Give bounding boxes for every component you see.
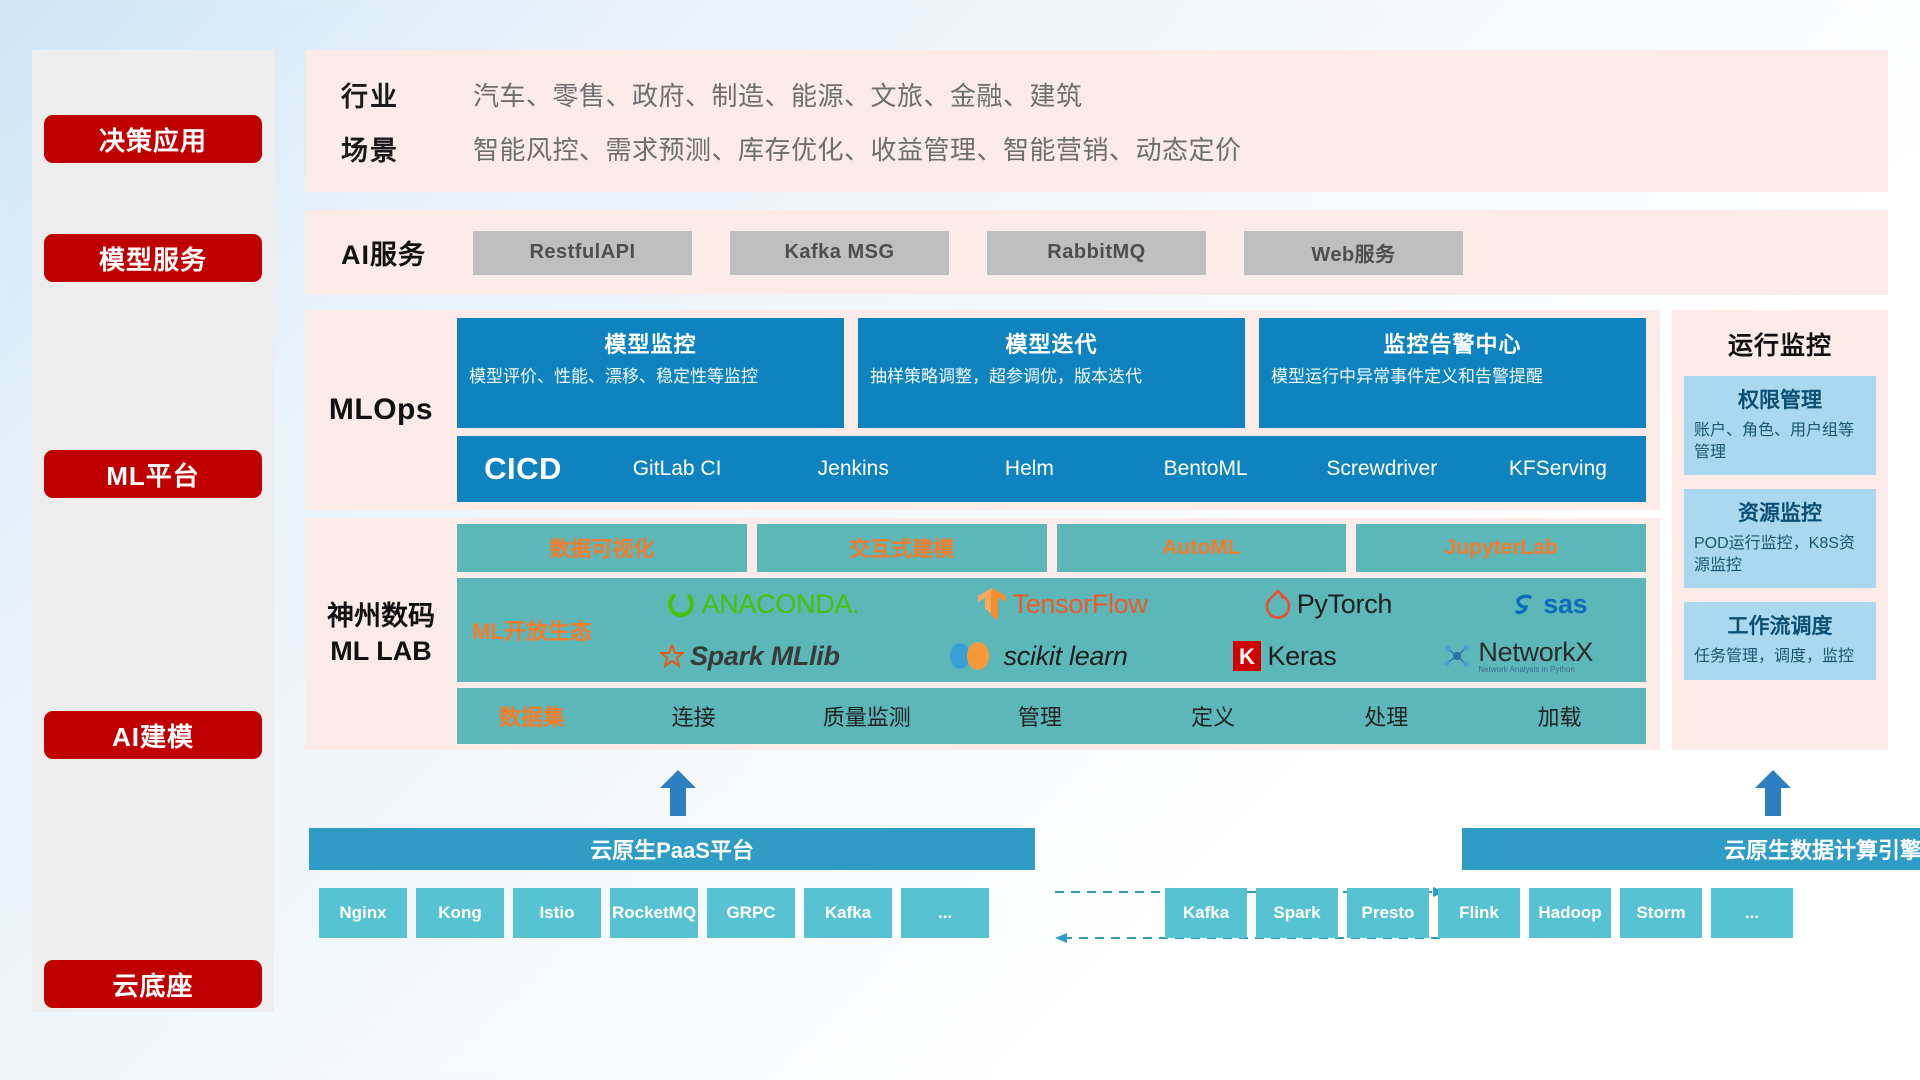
anaconda-logo: ANACONDA.: [666, 589, 860, 620]
ml-ecosystem-label: ML开放生态: [457, 614, 607, 646]
mlops-card-group: 模型监控 模型评价、性能、漂移、稳定性等监控 模型迭代 抽样策略调整，超参调优，…: [457, 318, 1646, 428]
industry-key: 行业: [341, 75, 473, 114]
mlops-card-model-monitoring[interactable]: 模型监控 模型评价、性能、漂移、稳定性等监控: [457, 318, 844, 428]
paas-chip-nginx[interactable]: Nginx: [319, 888, 407, 938]
industry-line: 行业 汽车、零售、政府、制造、能源、文旅、金融、建筑: [341, 67, 1888, 121]
mlops-card-alert-center[interactable]: 监控告警中心 模型运行中异常事件定义和告警提醒: [1259, 318, 1646, 428]
ml-lab-key: 神州数码 ML LAB: [305, 599, 457, 668]
engine-chip-spark[interactable]: Spark: [1256, 888, 1338, 938]
card-desc: 抽样策略调整，超参调优，版本迭代: [870, 366, 1233, 389]
dataset-label: 数据集: [457, 700, 607, 732]
sas-label: sas: [1543, 589, 1587, 620]
card-title: 资源监控: [1694, 497, 1866, 527]
pytorch-label: PyTorch: [1297, 589, 1392, 620]
ml-ecosystem-logos: ANACONDA. TensorFlow: [607, 579, 1646, 681]
networkx-logo: NetworkX Network Analysis in Python: [1442, 639, 1593, 674]
svg-text:K: K: [1240, 644, 1256, 669]
engine-chip-more[interactable]: ...: [1711, 888, 1793, 938]
logo-row-1: ANACONDA. TensorFlow: [607, 579, 1646, 629]
card-title: 权限管理: [1694, 384, 1866, 414]
networkx-label: NetworkX: [1478, 639, 1593, 666]
ml-lab-key-line2: ML LAB: [305, 634, 457, 669]
left-layer-rail: 决策应用 模型服务 ML平台 AI建模 云底座: [32, 50, 274, 1012]
card-title: 工作流调度: [1694, 610, 1866, 640]
ml-lab-tab-group: 数据可视化 交互式建模 AutoML JupyterLab: [457, 524, 1646, 572]
rail-item-ai-modeling[interactable]: AI建模: [44, 711, 262, 759]
dataset-item-quality-monitor[interactable]: 质量监测: [780, 700, 953, 732]
pytorch-logo: PyTorch: [1265, 589, 1392, 620]
scenario-section: 行业 汽车、零售、政府、制造、能源、文旅、金融、建筑 场景 智能风控、需求预测、…: [305, 50, 1888, 192]
paas-chip-istio[interactable]: Istio: [513, 888, 601, 938]
pytorch-icon: [1265, 589, 1291, 619]
mlops-key: MLOps: [305, 393, 457, 427]
cicd-item-jenkins[interactable]: Jenkins: [765, 456, 941, 482]
ai-service-chip-group: RestfulAPI Kafka MSG RabbitMQ Web服务: [473, 231, 1463, 275]
engine-chip-kafka[interactable]: Kafka: [1165, 888, 1247, 938]
mlops-card-model-iteration[interactable]: 模型迭代 抽样策略调整，超参调优，版本迭代: [858, 318, 1245, 428]
cicd-item-screwdriver[interactable]: Screwdriver: [1294, 456, 1470, 482]
card-title: 模型迭代: [870, 327, 1233, 359]
rail-item-model-service[interactable]: 模型服务: [44, 234, 262, 282]
scene-line: 场景 智能风控、需求预测、库存优化、收益管理、智能营销、动态定价: [341, 121, 1888, 175]
ml-lab-content: 数据可视化 交互式建模 AutoML JupyterLab ML开放生态: [457, 524, 1660, 744]
tensorflow-logo: TensorFlow: [977, 587, 1148, 621]
mlops-content: 模型监控 模型评价、性能、漂移、稳定性等监控 模型迭代 抽样策略调整，超参调优，…: [457, 318, 1660, 502]
paas-chip-kafka[interactable]: Kafka: [804, 888, 892, 938]
ai-service-key: AI服务: [341, 233, 473, 272]
logo-row-2: Spark MLlib scikit learn: [607, 631, 1646, 681]
spark-mllib-label: Spark MLlib: [690, 641, 840, 672]
cloud-paas-bar[interactable]: 云原生PaaS平台: [309, 828, 1035, 870]
ai-service-chip-rabbitmq[interactable]: RabbitMQ: [987, 231, 1206, 275]
card-title: 模型监控: [469, 327, 832, 359]
card-desc: 账户、角色、用户组等管理: [1694, 420, 1866, 463]
ai-service-section: AI服务 RestfulAPI Kafka MSG RabbitMQ Web服务: [305, 210, 1888, 295]
engine-chip-presto[interactable]: Presto: [1347, 888, 1429, 938]
scikit-learn-logo: scikit learn: [946, 641, 1128, 672]
keras-logo: K Keras: [1233, 641, 1336, 672]
paas-chip-rocketmq[interactable]: RocketMQ: [610, 888, 698, 938]
dataset-item-manage[interactable]: 管理: [953, 700, 1126, 732]
paas-chip-grpc[interactable]: GRPC: [707, 888, 795, 938]
cicd-item-kfserving[interactable]: KFServing: [1470, 456, 1646, 482]
ai-service-chip-restfulapi[interactable]: RestfulAPI: [473, 231, 692, 275]
diagram-canvas: 决策应用 模型服务 ML平台 AI建模 云底座 行业 汽车、零售、政府、制造、能…: [0, 0, 1920, 1080]
card-desc: 模型运行中异常事件定义和告警提醒: [1271, 366, 1634, 389]
scene-value: 智能风控、需求预测、库存优化、收益管理、智能营销、动态定价: [473, 130, 1242, 167]
mlops-section: MLOps 模型监控 模型评价、性能、漂移、稳定性等监控 模型迭代 抽样策略调整…: [305, 310, 1660, 510]
networkx-icon: [1442, 641, 1472, 671]
ml-lab-section: 神州数码 ML LAB 数据可视化 交互式建模 AutoML JupyterLa…: [305, 518, 1660, 750]
cicd-item-helm[interactable]: Helm: [941, 456, 1117, 482]
rail-item-label: ML平台: [106, 456, 200, 493]
card-desc: POD运行监控，K8S资源监控: [1694, 533, 1866, 576]
dataset-item-load[interactable]: 加载: [1473, 700, 1646, 732]
ml-ecosystem-band: ML开放生态 ANACONDA.: [457, 578, 1646, 682]
ai-service-chip-web-service[interactable]: Web服务: [1244, 231, 1463, 275]
data-engine-chip-group: Kafka Spark Presto Flink Hadoop Storm ..…: [1165, 888, 1793, 938]
sas-icon: [1509, 590, 1537, 618]
tensorflow-icon: [977, 587, 1007, 621]
keras-label: Keras: [1267, 641, 1336, 672]
tab-data-visualization[interactable]: 数据可视化: [457, 524, 747, 572]
paas-chip-kong[interactable]: Kong: [416, 888, 504, 938]
cloud-base-section: 云原生PaaS平台 云原生数据计算引擎 Nginx Kong Istio Roc…: [305, 760, 1888, 1060]
engine-chip-flink[interactable]: Flink: [1438, 888, 1520, 938]
sas-logo: sas: [1509, 589, 1587, 620]
cicd-label: CICD: [457, 451, 589, 487]
rail-item-decision-app[interactable]: 决策应用: [44, 115, 262, 163]
tensorflow-label: TensorFlow: [1013, 589, 1148, 620]
card-desc: 模型评价、性能、漂移、稳定性等监控: [469, 366, 832, 389]
paas-chip-more[interactable]: ...: [901, 888, 989, 938]
tab-automl[interactable]: AutoML: [1057, 524, 1347, 572]
dataset-item-group: 连接 质量监测 管理 定义 处理 加载: [607, 700, 1646, 732]
scikit-learn-label: scikit learn: [1004, 641, 1128, 672]
industry-value: 汽车、零售、政府、制造、能源、文旅、金融、建筑: [473, 76, 1083, 113]
cicd-item-group: GitLab CI Jenkins Helm BentoML Screwdriv…: [589, 456, 1646, 482]
rail-item-cloud-base[interactable]: 云底座: [44, 960, 262, 1008]
cicd-item-bentoml[interactable]: BentoML: [1118, 456, 1294, 482]
spark-star-icon: [660, 644, 684, 668]
up-arrow-icon-right: [1755, 770, 1791, 816]
anaconda-icon: [666, 589, 696, 619]
spark-mllib-logo: Spark MLlib: [660, 641, 840, 672]
rail-item-label: 决策应用: [99, 121, 207, 158]
ai-service-chip-kafka-msg[interactable]: Kafka MSG: [730, 231, 949, 275]
cicd-item-gitlab-ci[interactable]: GitLab CI: [589, 456, 765, 482]
monitor-card-permission[interactable]: 权限管理 账户、角色、用户组等管理: [1684, 376, 1876, 475]
scikit-learn-icon: [946, 641, 998, 671]
dataset-item-process[interactable]: 处理: [1300, 700, 1473, 732]
runtime-monitor-title: 运行监控: [1684, 326, 1876, 362]
engine-chip-hadoop[interactable]: Hadoop: [1529, 888, 1611, 938]
rail-item-ml-platform[interactable]: ML平台: [44, 450, 262, 498]
tab-interactive-modeling[interactable]: 交互式建模: [757, 524, 1047, 572]
cicd-bar: CICD GitLab CI Jenkins Helm BentoML Scre…: [457, 436, 1646, 502]
ml-lab-key-line1: 神州数码: [305, 599, 457, 634]
up-arrow-icon-left: [660, 770, 696, 816]
networkx-sublabel: Network Analysis in Python: [1478, 666, 1593, 674]
card-title: 监控告警中心: [1271, 327, 1634, 359]
rail-item-label: 云底座: [112, 966, 193, 1003]
rail-item-label: AI建模: [112, 717, 194, 754]
keras-icon: K: [1233, 641, 1261, 671]
scene-key: 场景: [341, 129, 473, 168]
runtime-monitor-panel: 运行监控 权限管理 账户、角色、用户组等管理 资源监控 POD运行监控，K8S资…: [1672, 310, 1888, 750]
card-desc: 任务管理，调度，监控: [1694, 646, 1866, 668]
cloud-data-engine-bar[interactable]: 云原生数据计算引擎: [1462, 828, 1920, 870]
dataset-item-define[interactable]: 定义: [1127, 700, 1300, 732]
dataset-band: 数据集 连接 质量监测 管理 定义 处理 加载: [457, 688, 1646, 744]
engine-chip-storm[interactable]: Storm: [1620, 888, 1702, 938]
rail-item-label: 模型服务: [99, 240, 207, 277]
tab-jupyterlab[interactable]: JupyterLab: [1356, 524, 1646, 572]
anaconda-label: ANACONDA.: [702, 589, 860, 620]
dataset-item-connect[interactable]: 连接: [607, 700, 780, 732]
monitor-card-workflow[interactable]: 工作流调度 任务管理，调度，监控: [1684, 602, 1876, 680]
monitor-card-resource[interactable]: 资源监控 POD运行监控，K8S资源监控: [1684, 489, 1876, 588]
paas-chip-group: Nginx Kong Istio RocketMQ GRPC Kafka ...: [319, 888, 989, 938]
